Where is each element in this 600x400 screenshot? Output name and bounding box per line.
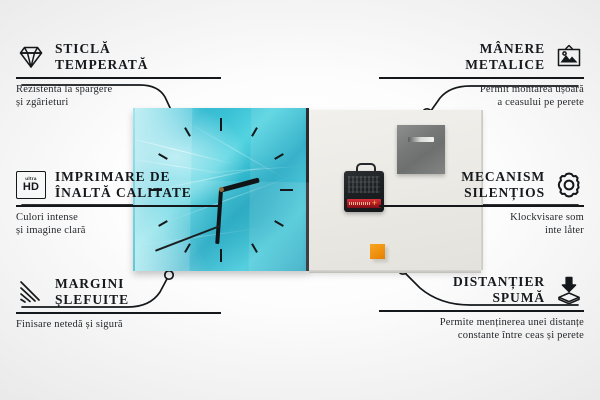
mechanism-hanging-loop	[356, 163, 376, 175]
callout-description: Culori intense și imagine clară	[16, 211, 221, 238]
ultra-hd-icon: ultra HD	[16, 170, 46, 200]
battery-plus-terminal: +	[371, 200, 378, 207]
callout-header: ultra HD IMPRIMARE DE ÎNALTĂ CALITATE	[16, 168, 221, 202]
foam-spacer-arrow-icon	[554, 275, 584, 305]
callout-description: Klockvisare som inte låter	[379, 211, 584, 238]
diamond-icon	[16, 42, 46, 72]
callout-divider	[16, 77, 221, 79]
callout-description: Permite menținerea unei distanțe constan…	[379, 316, 584, 343]
infographic-canvas: + STICLĂ TEMPERATĂ Rezistentă	[0, 0, 600, 400]
callout-distantier-spuma: DISTANȚIER SPUMĂ Permite menținerea unei…	[379, 273, 584, 343]
callout-margini-slefuite: MARGINI ȘLEFUITE Finisare netedă și sigu…	[16, 275, 221, 331]
mechanism-label-print	[348, 176, 380, 193]
callout-header: MARGINI ȘLEFUITE	[16, 275, 221, 309]
callout-header: MECANISM SILENȚIOS	[379, 168, 584, 202]
callout-title: MÂNERE METALICE	[465, 41, 545, 74]
picture-frame-hanger-icon	[554, 42, 584, 72]
callout-divider	[16, 205, 221, 207]
callout-divider	[379, 310, 584, 312]
callout-title: STICLĂ TEMPERATĂ	[55, 41, 148, 74]
clock-mechanism: +	[344, 171, 384, 212]
callout-header: MÂNERE METALICE	[379, 40, 584, 74]
callout-description: Rezistentă la spargere și zgârieturi	[16, 83, 221, 110]
callout-title: DISTANȚIER SPUMĂ	[453, 274, 545, 307]
hanger-slot	[408, 137, 434, 142]
callout-divider	[379, 77, 584, 79]
foam-spacer	[370, 244, 385, 259]
callout-title: IMPRIMARE DE ÎNALTĂ CALITATE	[55, 169, 192, 202]
callout-header: STICLĂ TEMPERATĂ	[16, 40, 221, 74]
battery: +	[347, 199, 381, 208]
callout-manere-metalice: MÂNERE METALICE Permit montarea ușoară a…	[379, 40, 584, 110]
callout-divider	[16, 312, 221, 314]
callout-header: DISTANȚIER SPUMĂ	[379, 273, 584, 307]
callout-divider	[379, 205, 584, 207]
callout-mecanism-silentios: MECANISM SILENȚIOS Klockvisare som inte …	[379, 168, 584, 238]
callout-title: MECANISM SILENȚIOS	[461, 169, 545, 202]
battery-label-stripe	[349, 202, 371, 205]
callout-sticla-temperata: STICLĂ TEMPERATĂ Rezistentă la spargere …	[16, 40, 221, 110]
callout-title: MARGINI ȘLEFUITE	[55, 276, 129, 309]
callout-description: Finisare netedă și sigură	[16, 318, 221, 332]
callout-imprimare-hd: ultra HD IMPRIMARE DE ÎNALTĂ CALITATE Cu…	[16, 168, 221, 238]
beveled-edge-icon	[16, 277, 46, 307]
metal-hanger-plate	[397, 125, 445, 174]
ultra-hd-icon-hd-text: HD	[23, 182, 39, 193]
callout-description: Permit montarea ușoară a ceasului pe per…	[379, 83, 584, 110]
gear-icon	[554, 170, 584, 200]
